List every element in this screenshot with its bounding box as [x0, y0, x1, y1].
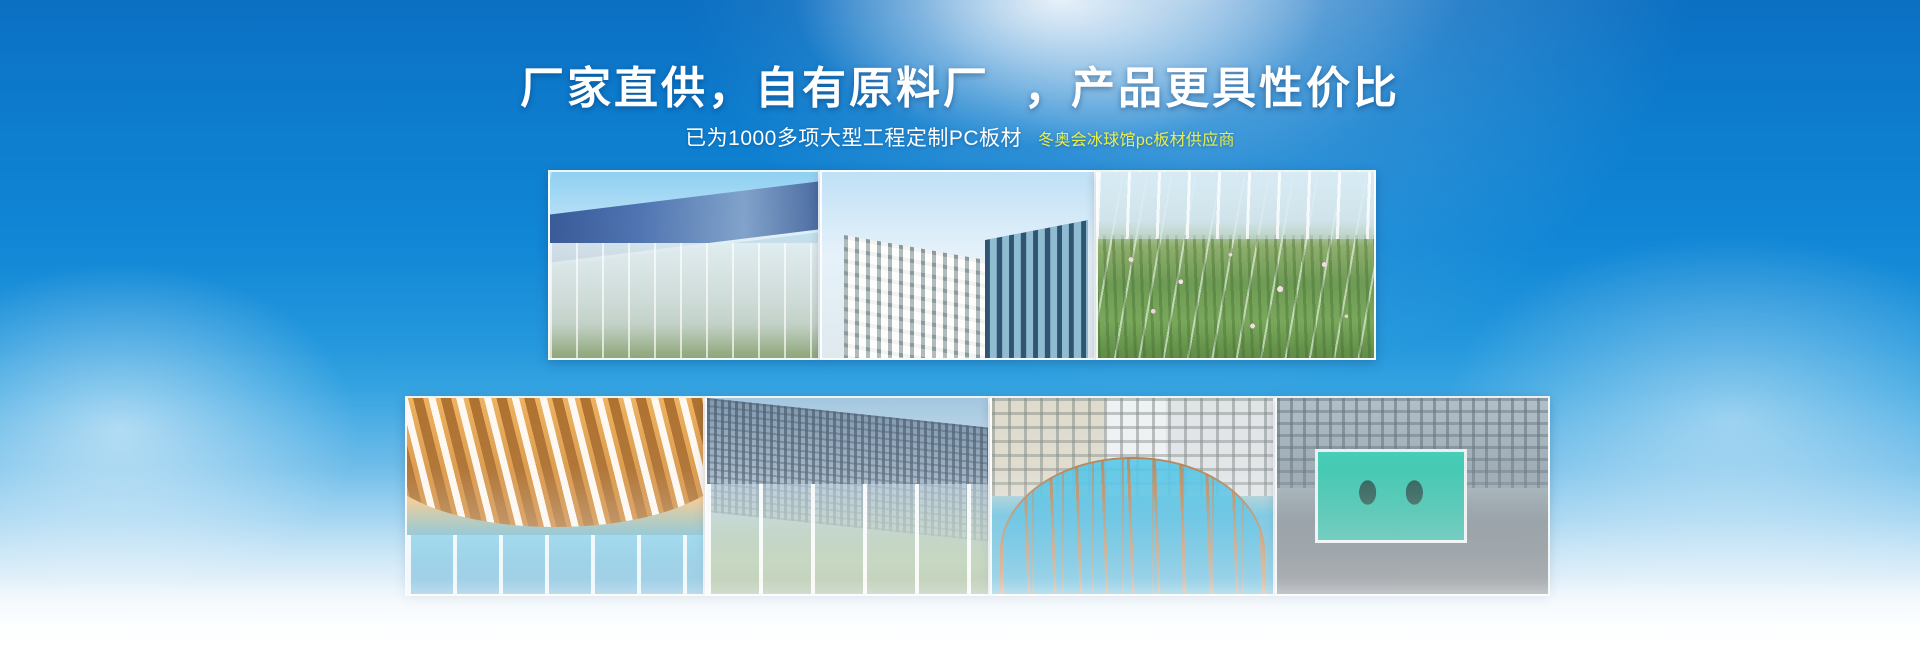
- photo-patterned-facade-building[interactable]: [820, 170, 1096, 360]
- photo-city-billboard-shelter[interactable]: [1275, 396, 1550, 596]
- photo-greenhouse-flower-planting[interactable]: [1096, 170, 1376, 360]
- photo-blue-arch-canopy[interactable]: [990, 396, 1275, 596]
- photo-wooden-arch-swimming-pool-roof[interactable]: [405, 396, 705, 596]
- photo-glass-greenhouse-blue-roof[interactable]: [548, 170, 820, 360]
- collage-bottom-row: [405, 396, 1550, 596]
- promo-banner: 厂家直供，自有原料厂，产品更具性价比 已为1000多项大型工程定制PC板材冬奥会…: [0, 0, 1920, 648]
- project-photo-collage: [0, 0, 1920, 648]
- collage-top-row: [548, 170, 1376, 360]
- photo-highway-noise-barrier[interactable]: [705, 396, 990, 596]
